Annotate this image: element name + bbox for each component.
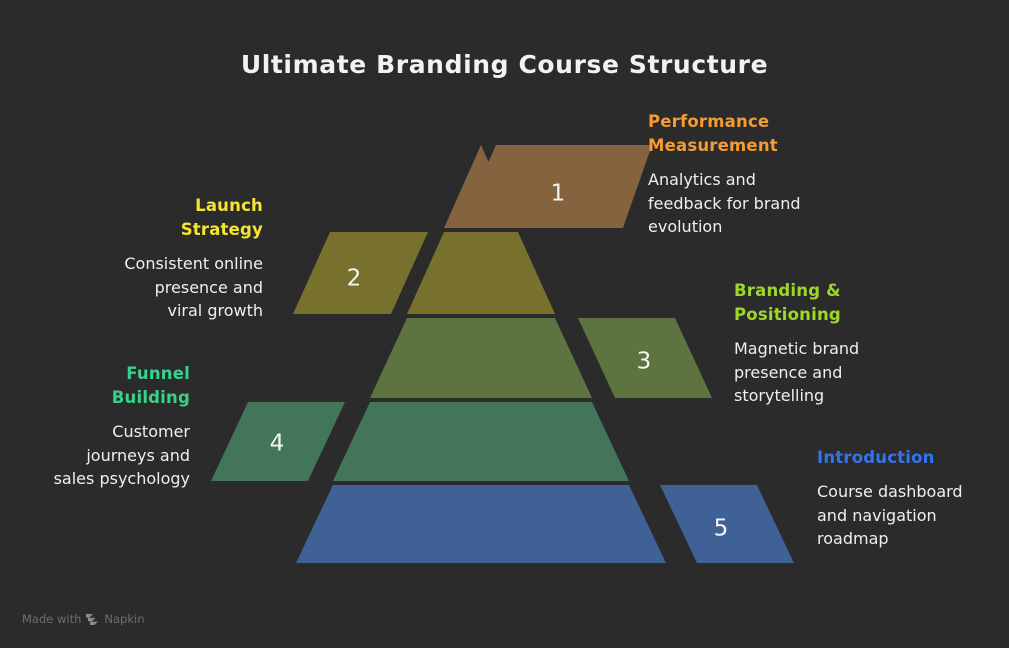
callout-level-3[interactable]: Branding & Positioning Magnetic brand pr… [734, 279, 904, 408]
callout-level-2[interactable]: Launch Strategy Consistent online presen… [115, 194, 263, 323]
pyramid-body-4[interactable] [333, 402, 629, 481]
pyramid-level-4[interactable]: 4 [211, 402, 629, 481]
callout-level-5[interactable]: Introduction Course dashboard and naviga… [817, 446, 977, 551]
pyramid-level-number-1: 1 [551, 181, 566, 207]
pyramid-level-3[interactable]: 3 [370, 318, 712, 398]
callout-description-4: Customer journeys and sales psychology [52, 420, 190, 491]
pyramid-level-5[interactable]: 5 [296, 485, 794, 563]
watermark-prefix: Made with [22, 612, 81, 626]
pyramid-level-number-5: 5 [714, 516, 729, 542]
pyramid-level-2[interactable]: 2 [293, 232, 555, 314]
callout-level-1[interactable]: Performance Measurement Analytics and fe… [648, 110, 823, 239]
pyramid-level-number-4: 4 [270, 431, 285, 457]
watermark-brand: Napkin [104, 612, 144, 626]
callout-description-2: Consistent online presence and viral gro… [115, 252, 263, 323]
callout-description-3: Magnetic brand presence and storytelling [734, 337, 904, 408]
callout-level-4[interactable]: Funnel Building Customer journeys and sa… [52, 362, 190, 491]
pyramid-level-1[interactable]: 1 [444, 145, 652, 228]
callout-description-5: Course dashboard and navigation roadmap [817, 480, 977, 551]
callout-title-1: Performance Measurement [648, 110, 823, 158]
callout-title-4: Funnel Building [52, 362, 190, 410]
callout-title-3: Branding & Positioning [734, 279, 904, 327]
callout-title-2: Launch Strategy [115, 194, 263, 242]
pyramid-body-5[interactable] [296, 485, 666, 563]
callout-description-1: Analytics and feedback for brand evoluti… [648, 168, 823, 239]
pyramid-body-3[interactable] [370, 318, 592, 398]
watermark[interactable]: Made with Napkin [22, 612, 145, 626]
napkin-logo-icon [86, 614, 99, 625]
diagram-canvas: Ultimate Branding Course Structure 1 2 3… [0, 0, 1009, 648]
callout-title-5: Introduction [817, 446, 977, 470]
pyramid-level-number-3: 3 [637, 349, 652, 375]
pyramid-level-number-2: 2 [347, 266, 362, 292]
pyramid-body-2[interactable] [407, 232, 555, 314]
